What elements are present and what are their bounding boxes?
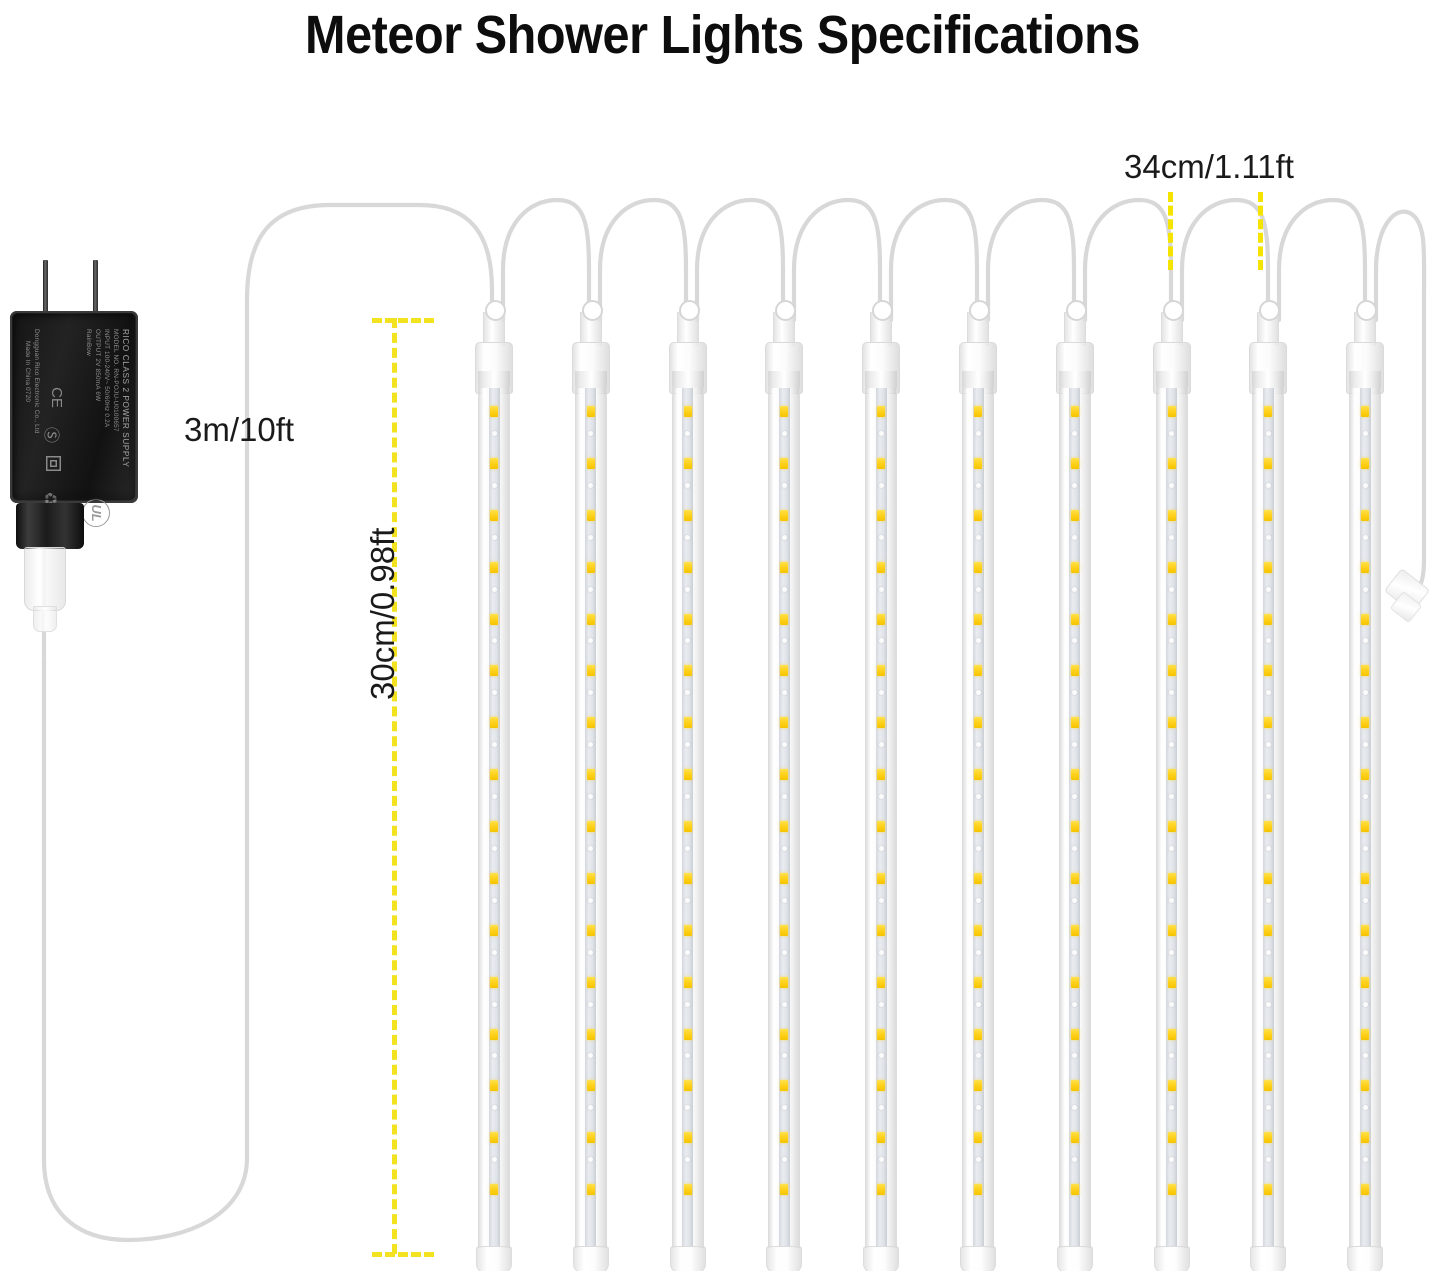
led-chip (1264, 510, 1272, 521)
led-chip (684, 1080, 692, 1091)
led-chip (877, 562, 885, 573)
led-chip (1168, 821, 1176, 832)
led-white-dot (879, 587, 884, 592)
led-white-dot (1363, 794, 1368, 799)
led-white-dot (1266, 898, 1271, 903)
led-chip (684, 873, 692, 884)
led-chip (490, 458, 498, 469)
led-chip (1168, 458, 1176, 469)
led-white-dot (685, 1105, 690, 1110)
led-chip (1264, 665, 1272, 676)
led-white-dot (492, 1002, 497, 1007)
led-chip (1168, 977, 1176, 988)
led-white-dot (588, 483, 593, 488)
led-white-dot (492, 1157, 497, 1162)
led-chip (780, 562, 788, 573)
hanging-ring-icon (1163, 300, 1184, 321)
led-chip (587, 717, 595, 728)
led-white-dot (492, 690, 497, 695)
led-white-dot (976, 898, 981, 903)
led-white-dot (588, 846, 593, 851)
led-chip (974, 1132, 982, 1143)
led-white-dot (879, 638, 884, 643)
led-white-dot (1266, 1053, 1271, 1058)
led-chip (1361, 458, 1369, 469)
led-white-dot (1363, 638, 1368, 643)
led-chip (684, 769, 692, 780)
led-chip (974, 925, 982, 936)
led-white-dot (782, 794, 787, 799)
led-white-dot (976, 535, 981, 540)
led-chip (1071, 769, 1079, 780)
led-chip (1071, 821, 1079, 832)
led-chip (490, 1132, 498, 1143)
led-white-dot (588, 1105, 593, 1110)
led-chip (1264, 1080, 1272, 1091)
led-chip (1071, 510, 1079, 521)
led-chip (780, 406, 788, 417)
led-white-dot (1266, 535, 1271, 540)
led-white-dot (1072, 898, 1077, 903)
led-white-dot (879, 1157, 884, 1162)
led-tube (567, 300, 613, 1271)
tube-body (1252, 388, 1284, 1248)
led-white-dot (976, 1105, 981, 1110)
led-white-dot (685, 1002, 690, 1007)
led-white-dot (1363, 950, 1368, 955)
led-chip (1264, 1184, 1272, 1195)
led-white-dot (685, 898, 690, 903)
tube-top-cap (862, 342, 900, 394)
led-white-dot (588, 690, 593, 695)
tube-bottom-cap (863, 1246, 899, 1271)
led-chip (780, 821, 788, 832)
led-chip (877, 458, 885, 469)
led-white-dot (1266, 794, 1271, 799)
tube-body (575, 388, 607, 1248)
led-strip (876, 388, 887, 1248)
led-white-dot (1072, 846, 1077, 851)
led-chip (877, 510, 885, 521)
label-tube-spacing: 34cm/1.11ft (1124, 148, 1294, 186)
led-white-dot (1072, 1105, 1077, 1110)
led-white-dot (782, 690, 787, 695)
led-white-dot (1266, 638, 1271, 643)
led-white-dot (1169, 587, 1174, 592)
led-white-dot (782, 587, 787, 592)
led-white-dot (1266, 431, 1271, 436)
adapter-model-text: MODEL NO. RN-POJU-U0100657 (112, 329, 119, 432)
tube-body (865, 388, 897, 1248)
hanging-ring-icon (1066, 300, 1087, 321)
tube-body (1349, 388, 1381, 1248)
led-chip (877, 925, 885, 936)
led-chip (1361, 614, 1369, 625)
led-white-dot (1169, 1157, 1174, 1162)
led-chip (490, 406, 498, 417)
led-chip (587, 769, 595, 780)
led-white-dot (1169, 1053, 1174, 1058)
led-chip (587, 1080, 595, 1091)
tube-bottom-cap (766, 1246, 802, 1271)
led-white-dot (685, 431, 690, 436)
led-white-dot (685, 587, 690, 592)
led-chip (587, 406, 595, 417)
led-chip (1264, 717, 1272, 728)
adapter-body: RICO CLASS 2 POWER SUPPLY MODEL NO. RN-P… (10, 311, 138, 503)
led-white-dot (588, 1053, 593, 1058)
led-white-dot (588, 742, 593, 747)
led-chip (587, 614, 595, 625)
led-strip (1069, 388, 1080, 1248)
adapter-male-connector (24, 547, 66, 611)
led-chip (974, 1029, 982, 1040)
tube-body (1156, 388, 1188, 1248)
led-white-dot (1363, 483, 1368, 488)
led-white-dot (492, 950, 497, 955)
led-white-dot (879, 794, 884, 799)
led-white-dot (685, 535, 690, 540)
led-white-dot (879, 898, 884, 903)
led-chip (780, 717, 788, 728)
led-white-dot (1072, 431, 1077, 436)
led-white-dot (782, 431, 787, 436)
led-chip (974, 821, 982, 832)
led-chip (1264, 1132, 1272, 1143)
led-white-dot (976, 690, 981, 695)
led-chip (587, 458, 595, 469)
led-chip (1168, 510, 1176, 521)
led-chip (1361, 562, 1369, 573)
led-chip (877, 821, 885, 832)
led-chip (587, 1029, 595, 1040)
led-white-dot (782, 1053, 787, 1058)
led-white-dot (1266, 950, 1271, 955)
adapter-output-text: OUTPUT 2V 850mA 6W (94, 329, 101, 401)
led-white-dot (782, 1157, 787, 1162)
led-chip (684, 1029, 692, 1040)
led-white-dot (1363, 1157, 1368, 1162)
led-chip (1264, 821, 1272, 832)
led-chip (490, 1029, 498, 1040)
led-white-dot (879, 1002, 884, 1007)
led-white-dot (879, 846, 884, 851)
led-chip (1264, 458, 1272, 469)
led-white-dot (1363, 1002, 1368, 1007)
led-chip (780, 665, 788, 676)
led-white-dot (685, 742, 690, 747)
led-white-dot (1363, 898, 1368, 903)
hanging-ring-icon (582, 300, 603, 321)
led-chip (877, 1029, 885, 1040)
led-chip (780, 458, 788, 469)
led-white-dot (1169, 742, 1174, 747)
led-white-dot (492, 1105, 497, 1110)
tube-body (768, 388, 800, 1248)
double-square-icon (46, 456, 61, 471)
tube-bottom-cap (1250, 1246, 1286, 1271)
ce-mark-icon: CE (48, 387, 65, 408)
led-white-dot (1169, 1105, 1174, 1110)
led-white-dot (782, 483, 787, 488)
led-chip (974, 406, 982, 417)
psi-mark-icon: Ⓢ (41, 427, 65, 443)
led-tube (664, 300, 710, 1271)
led-white-dot (1266, 1002, 1271, 1007)
tube-body (962, 388, 994, 1248)
led-chip (1361, 821, 1369, 832)
led-chip (587, 1184, 595, 1195)
led-white-dot (1363, 742, 1368, 747)
led-chip (490, 562, 498, 573)
led-chip (1264, 562, 1272, 573)
led-white-dot (879, 950, 884, 955)
led-chip (490, 873, 498, 884)
led-tube (1148, 300, 1194, 1271)
led-white-dot (685, 690, 690, 695)
led-white-dot (492, 898, 497, 903)
led-white-dot (879, 431, 884, 436)
led-white-dot (782, 1105, 787, 1110)
tube-top-cap (959, 342, 997, 394)
led-chip (1264, 977, 1272, 988)
led-white-dot (685, 950, 690, 955)
led-white-dot (1363, 587, 1368, 592)
led-chip (877, 1080, 885, 1091)
led-chip (490, 769, 498, 780)
led-white-dot (976, 1002, 981, 1007)
led-white-dot (1363, 690, 1368, 695)
led-chip (1168, 614, 1176, 625)
adapter-connector-tip (33, 606, 57, 632)
tube-bottom-cap (1347, 1246, 1383, 1271)
led-white-dot (782, 950, 787, 955)
led-white-dot (492, 587, 497, 592)
led-white-dot (1169, 535, 1174, 540)
led-white-dot (879, 690, 884, 695)
led-chip (1168, 1080, 1176, 1091)
led-chip (1168, 717, 1176, 728)
led-chip (780, 510, 788, 521)
led-white-dot (1266, 846, 1271, 851)
led-white-dot (685, 794, 690, 799)
led-white-dot (1169, 483, 1174, 488)
led-white-dot (588, 1002, 593, 1007)
led-chip (974, 1080, 982, 1091)
led-white-dot (588, 898, 593, 903)
led-chip (1361, 1080, 1369, 1091)
led-chip (780, 1132, 788, 1143)
led-white-dot (492, 483, 497, 488)
led-white-dot (492, 431, 497, 436)
adapter-input-text: INPUT 100-240V~ 50/60Hz 0.2A (103, 329, 110, 427)
led-white-dot (588, 950, 593, 955)
led-chip (1071, 925, 1079, 936)
led-white-dot (1072, 1157, 1077, 1162)
led-chip (1071, 717, 1079, 728)
led-white-dot (976, 794, 981, 799)
tube-top-cap (669, 342, 707, 394)
led-white-dot (1072, 535, 1077, 540)
led-white-dot (1363, 431, 1368, 436)
led-chip (1071, 614, 1079, 625)
led-chip (877, 406, 885, 417)
led-chip (587, 873, 595, 884)
led-white-dot (1072, 690, 1077, 695)
led-chip (1361, 665, 1369, 676)
label-tube-length: 30cm/0.98ft (364, 400, 402, 700)
led-chip (877, 769, 885, 780)
led-white-dot (1169, 794, 1174, 799)
led-strip (585, 388, 596, 1248)
led-white-dot (782, 846, 787, 851)
led-white-dot (976, 431, 981, 436)
led-chip (684, 1132, 692, 1143)
led-white-dot (976, 483, 981, 488)
led-chip (587, 562, 595, 573)
led-white-dot (782, 535, 787, 540)
tube-top-cap (1346, 342, 1384, 394)
led-white-dot (1266, 690, 1271, 695)
led-white-dot (1169, 846, 1174, 851)
led-chip (1071, 1132, 1079, 1143)
led-chip (780, 1184, 788, 1195)
led-strip (1263, 388, 1274, 1248)
led-chip (780, 873, 788, 884)
adapter-brand-text: RICO CLASS 2 POWER SUPPLY (121, 329, 130, 468)
led-chip (974, 510, 982, 521)
led-chip (684, 562, 692, 573)
led-white-dot (588, 587, 593, 592)
led-chip (1361, 510, 1369, 521)
led-chip (1264, 406, 1272, 417)
led-strip (489, 388, 500, 1248)
led-white-dot (1072, 950, 1077, 955)
led-chip (490, 821, 498, 832)
led-white-dot (879, 1105, 884, 1110)
led-white-dot (588, 535, 593, 540)
plug-prong-left (43, 260, 48, 315)
led-chip (684, 665, 692, 676)
led-white-dot (492, 535, 497, 540)
led-chip (490, 510, 498, 521)
led-chip (490, 665, 498, 676)
led-chip (684, 510, 692, 521)
led-white-dot (1169, 690, 1174, 695)
ul-mark-icon: UL (82, 499, 110, 527)
tube-top-cap (765, 342, 803, 394)
adapter-origin-text: Made In China 0720 (24, 341, 31, 402)
led-chip (490, 977, 498, 988)
led-chip (1264, 925, 1272, 936)
led-tube (1051, 300, 1097, 1271)
led-white-dot (1266, 483, 1271, 488)
led-chip (974, 769, 982, 780)
led-chip (974, 717, 982, 728)
led-chip (877, 873, 885, 884)
led-chip (490, 614, 498, 625)
led-chip (1361, 925, 1369, 936)
led-white-dot (685, 1053, 690, 1058)
tube-bottom-cap (670, 1246, 706, 1271)
led-chip (1168, 769, 1176, 780)
tube-top-cap (572, 342, 610, 394)
led-chip (974, 458, 982, 469)
led-white-dot (588, 1157, 593, 1162)
led-chip (877, 1132, 885, 1143)
led-chip (1168, 925, 1176, 936)
led-white-dot (1266, 1157, 1271, 1162)
hanging-ring-icon (969, 300, 990, 321)
spacing-tick-right (1258, 192, 1263, 270)
led-chip (1264, 873, 1272, 884)
led-white-dot (782, 1002, 787, 1007)
end-female-connector (1389, 568, 1435, 628)
led-strip (1166, 388, 1177, 1248)
led-white-dot (1169, 898, 1174, 903)
led-white-dot (685, 1157, 690, 1162)
led-white-dot (782, 638, 787, 643)
led-chip (1071, 406, 1079, 417)
led-chip (1168, 873, 1176, 884)
led-chip (587, 665, 595, 676)
led-chip (780, 769, 788, 780)
led-white-dot (879, 535, 884, 540)
dim-cap-top (372, 318, 434, 323)
led-chip (587, 821, 595, 832)
led-white-dot (492, 846, 497, 851)
plug-prong-right (93, 260, 98, 315)
led-chip (1071, 873, 1079, 884)
tube-top-cap (1249, 342, 1287, 394)
led-chip (1168, 1184, 1176, 1195)
led-white-dot (1169, 638, 1174, 643)
led-white-dot (1169, 950, 1174, 955)
led-tube (760, 300, 806, 1271)
led-chip (684, 1184, 692, 1195)
led-chip (1361, 1132, 1369, 1143)
led-white-dot (1169, 1002, 1174, 1007)
led-chip (587, 977, 595, 988)
led-chip (974, 665, 982, 676)
led-chip (877, 977, 885, 988)
led-chip (490, 1080, 498, 1091)
led-white-dot (1072, 1053, 1077, 1058)
led-chip (1071, 977, 1079, 988)
led-strip (1360, 388, 1371, 1248)
led-chip (974, 562, 982, 573)
hanging-ring-icon (485, 300, 506, 321)
led-white-dot (492, 1053, 497, 1058)
led-tube (857, 300, 903, 1271)
led-chip (1361, 873, 1369, 884)
led-white-dot (1072, 587, 1077, 592)
led-chip (780, 1029, 788, 1040)
led-white-dot (588, 431, 593, 436)
led-white-dot (879, 742, 884, 747)
led-chip (684, 717, 692, 728)
tube-body (672, 388, 704, 1248)
led-chip (684, 925, 692, 936)
led-white-dot (976, 587, 981, 592)
led-chip (877, 717, 885, 728)
led-white-dot (1072, 794, 1077, 799)
tube-top-cap (1153, 342, 1191, 394)
led-chip (1361, 977, 1369, 988)
led-white-dot (492, 638, 497, 643)
led-white-dot (1363, 1053, 1368, 1058)
led-chip (877, 1184, 885, 1195)
